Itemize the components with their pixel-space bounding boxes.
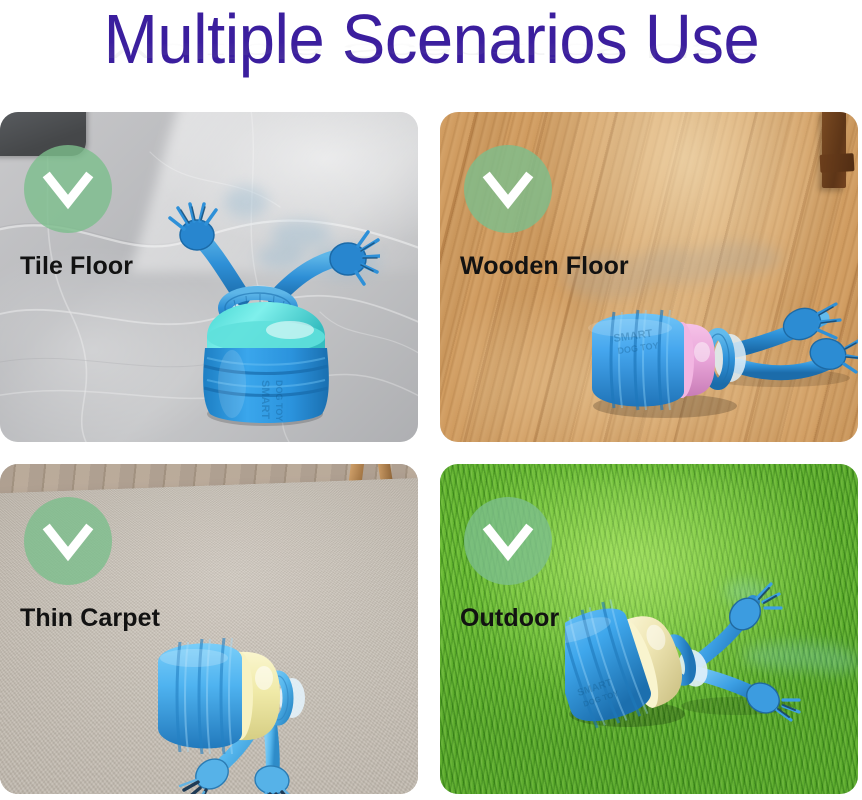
product-toy-thin-carpet (150, 614, 360, 794)
check-badge (24, 145, 112, 233)
furniture-leg (822, 112, 846, 188)
product-toy-tile-floor: SMART DOG TOY (150, 202, 380, 427)
product-toy-outdoor: SMART DOG TOY (565, 576, 815, 766)
scenario-panel-tile-floor[interactable]: SMART DOG TOY Tile Floor (0, 112, 418, 442)
check-badge (464, 497, 552, 585)
product-toy-wooden-floor: SMART DOG TOY (570, 280, 858, 420)
page-title-container: Multiple Scenarios Use Multiple Scenario… (0, 0, 862, 98)
check-icon (464, 497, 552, 585)
svg-text:DOG TOY: DOG TOY (274, 380, 284, 421)
scenario-panel-wooden-floor[interactable]: SMART DOG TOY Wooden Floor (440, 112, 858, 442)
panel-label-wooden-floor: Wooden Floor (460, 252, 629, 281)
check-badge (464, 145, 552, 233)
scenario-panel-outdoor[interactable]: SMART DOG TOY Outdoor (440, 464, 858, 794)
infographic-root: Multiple Scenarios Use Multiple Scenario… (0, 0, 862, 800)
check-badge (24, 497, 112, 585)
check-icon (464, 145, 552, 233)
check-icon (24, 145, 112, 233)
page-title: Multiple Scenarios Use (103, 0, 759, 76)
svg-text:SMART: SMART (259, 380, 271, 419)
check-icon (24, 497, 112, 585)
panel-label-outdoor: Outdoor (460, 604, 559, 633)
scenario-panel-thin-carpet[interactable]: Thin Carpet (0, 464, 418, 794)
panel-label-tile-floor: Tile Floor (20, 252, 133, 281)
panel-label-thin-carpet: Thin Carpet (20, 604, 160, 633)
scenario-grid: SMART DOG TOY Tile Floor (0, 112, 858, 794)
furniture-foot (820, 153, 855, 173)
